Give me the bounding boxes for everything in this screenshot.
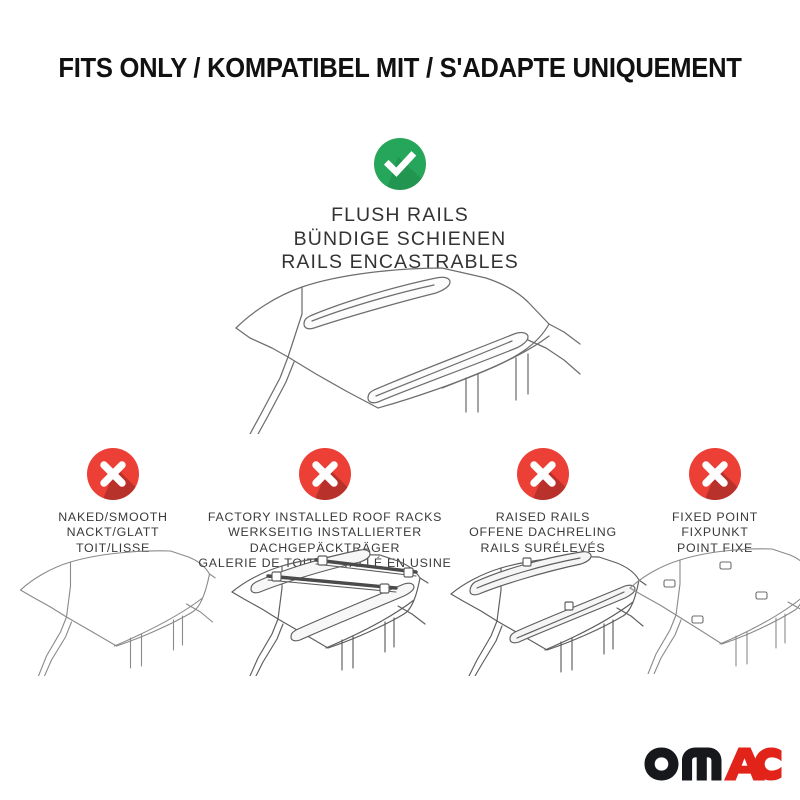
- check-circle-icon: [374, 138, 426, 190]
- incompatible-section: NAKED/SMOOTH NACKT/GLATT TOIT/LISSE: [0, 448, 800, 698]
- x-circle-icon: [87, 448, 139, 500]
- logo-letter-m: [682, 748, 722, 781]
- incompatible-item-naked-smooth: NAKED/SMOOTH NACKT/GLATT TOIT/LISSE: [3, 448, 223, 556]
- x-circle-icon: [517, 448, 569, 500]
- incompatible-label-en: RAISED RAILS: [437, 510, 649, 525]
- incompatible-label-en: NAKED/SMOOTH: [3, 510, 223, 525]
- badge-wrapper: [196, 448, 454, 504]
- car-roof-naked-illustration: [11, 546, 216, 681]
- incompatible-item-raised-rails: RAISED RAILS OFFENE DACHRELING RAILS SUR…: [437, 448, 649, 556]
- incompatible-label-en: FACTORY INSTALLED ROOF RACKS: [196, 510, 454, 525]
- incompatible-label-de-1: WERKSEITIG INSTALLIERTER: [196, 525, 454, 540]
- compatible-label-en: FLUSH RAILS: [0, 204, 800, 228]
- incompatible-label-de: NACKT/GLATT: [3, 525, 223, 540]
- badge-wrapper: [437, 448, 649, 504]
- car-roof-flush-rails-illustration: [228, 262, 588, 434]
- badge-wrapper: [630, 448, 800, 504]
- car-roof-fixed-point-illustration: [620, 544, 800, 679]
- page-title: FITS ONLY / KOMPATIBEL MIT / S'ADAPTE UN…: [28, 52, 772, 84]
- compatible-section: FLUSH RAILS BÜNDIGE SCHIENEN RAILS ENCAS…: [0, 138, 800, 275]
- badge-wrapper: [3, 448, 223, 504]
- omac-logo: [642, 748, 782, 782]
- car-roof-raised-rails-illustration: [439, 544, 647, 681]
- incompatible-label-en: FIXED POINT: [630, 510, 800, 525]
- car-roof-factory-racks-illustration: [220, 544, 430, 681]
- incompatible-label-de: OFFENE DACHRELING: [437, 525, 649, 540]
- compatibility-infographic: FITS ONLY / KOMPATIBEL MIT / S'ADAPTE UN…: [0, 0, 800, 800]
- incompatible-label-de: FIXPUNKT: [630, 525, 800, 540]
- x-circle-icon: [689, 448, 741, 500]
- compatible-label-de: BÜNDIGE SCHIENEN: [0, 228, 800, 252]
- incompatible-item-fixed-point: FIXED POINT FIXPUNKT POINT FIXE: [630, 448, 800, 556]
- incompatible-item-factory-racks: FACTORY INSTALLED ROOF RACKS WERKSEITIG …: [196, 448, 454, 572]
- logo-letter-o: [645, 748, 679, 781]
- x-circle-icon: [299, 448, 351, 500]
